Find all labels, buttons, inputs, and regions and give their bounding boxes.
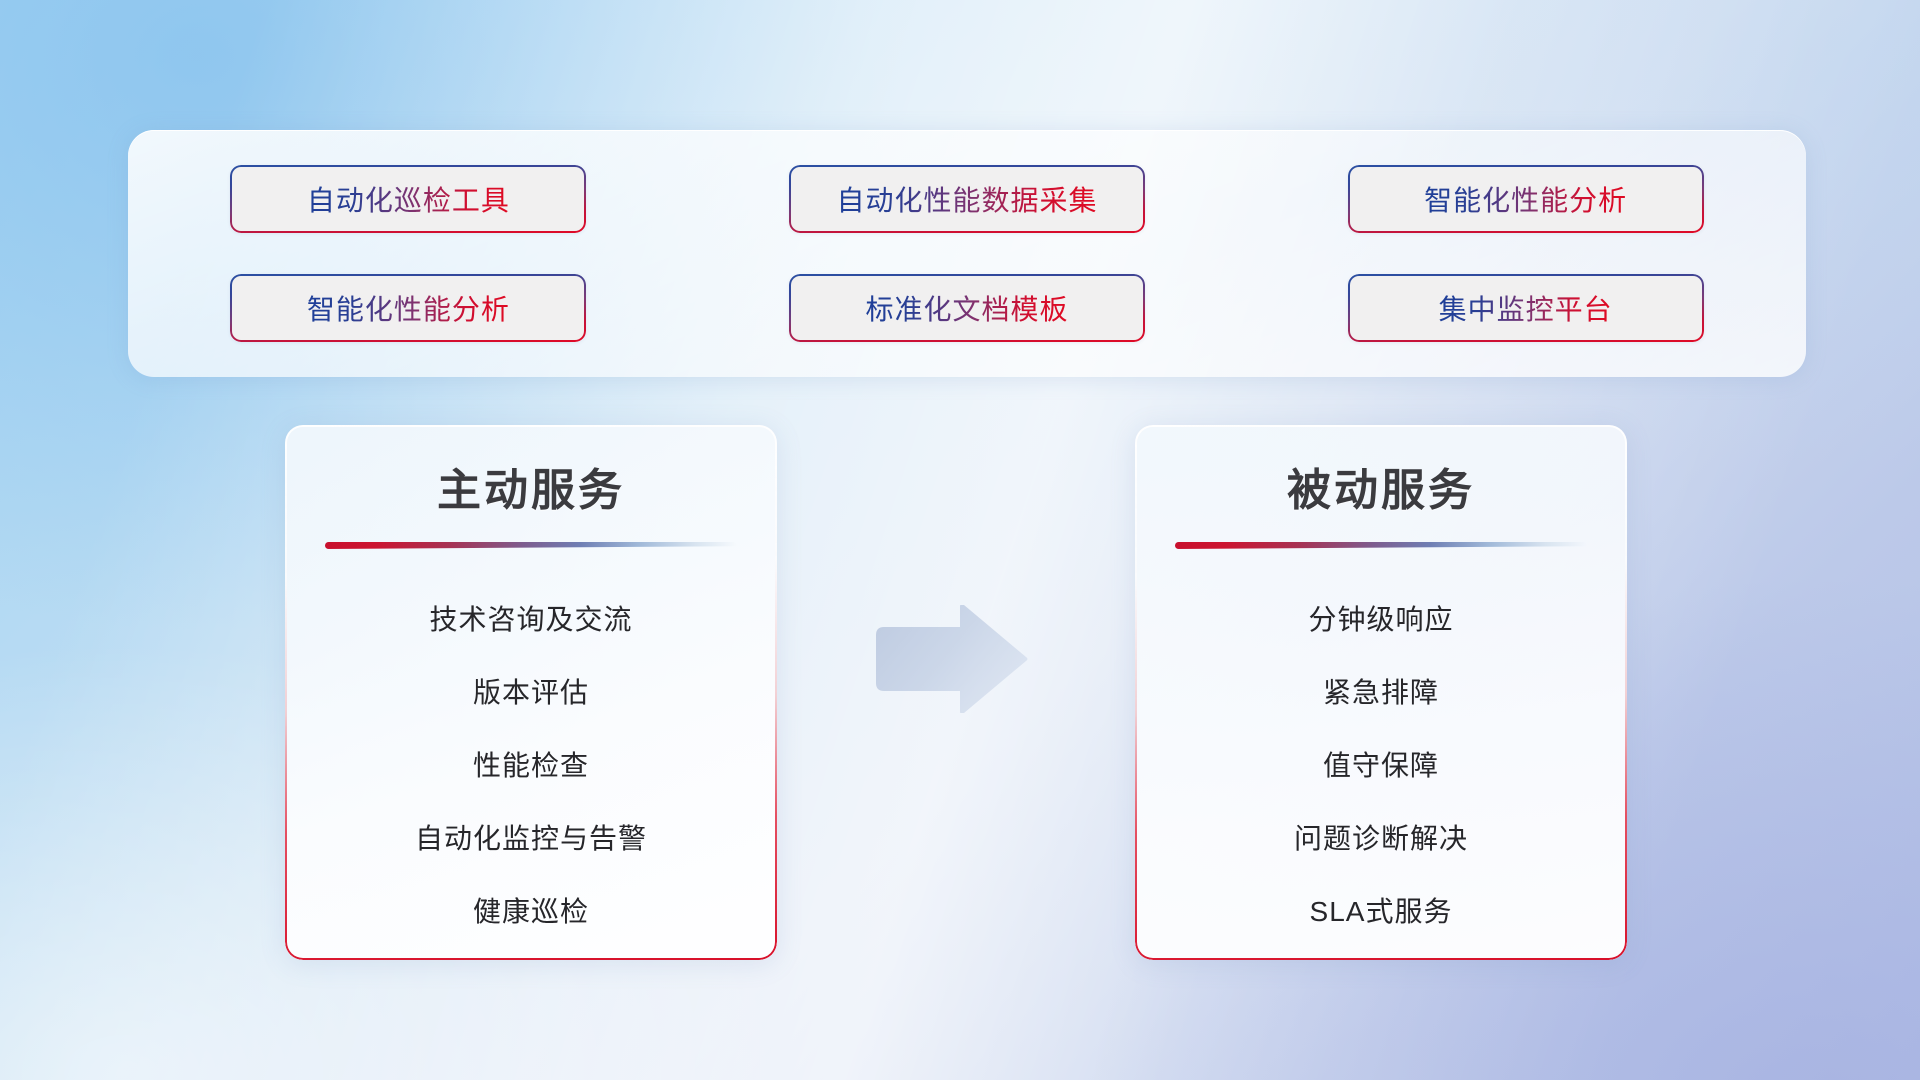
service-card-proactive[interactable]: 主动服务 技术咨询及交流 版本评估 性能检查 自动化监控与告警 健康巡检 (285, 425, 777, 960)
capability-pill-centralized-monitoring-platform[interactable]: 集中监控平台 (1348, 274, 1704, 342)
capability-pill-grid: 自动化巡检工具 自动化性能数据采集 智能化性能分析 智能化性能分析 标准化文档模… (168, 156, 1766, 351)
service-card-reactive[interactable]: 被动服务 分钟级响应 紧急排障 值守保障 问题诊断解决 SLA式服务 (1135, 425, 1627, 960)
capability-pill-label: 自动化性能数据采集 (836, 179, 1097, 219)
capability-pill-label: 集中监控平台 (1439, 288, 1613, 328)
service-item-list: 分钟级响应 紧急排障 值守保障 问题诊断解决 SLA式服务 (1173, 583, 1589, 948)
service-card-title: 被动服务 (1173, 463, 1589, 518)
capability-pill-label: 自动化巡检工具 (307, 179, 510, 219)
list-item: 版本评估 (323, 656, 739, 729)
list-item: 性能检查 (323, 729, 739, 802)
capability-pill-label: 智能化性能分析 (1424, 179, 1627, 219)
list-item: 健康巡检 (323, 875, 739, 948)
list-item: 值守保障 (1173, 729, 1589, 802)
capability-pill-automated-inspection-tool[interactable]: 自动化巡检工具 (230, 165, 586, 233)
service-card-title: 主动服务 (323, 463, 739, 518)
capabilities-panel: 自动化巡检工具 自动化性能数据采集 智能化性能分析 智能化性能分析 标准化文档模… (128, 130, 1806, 377)
service-card-divider (1175, 542, 1587, 549)
service-card-content: 被动服务 分钟级响应 紧急排障 值守保障 问题诊断解决 SLA式服务 (1135, 425, 1627, 960)
list-item: 技术咨询及交流 (323, 583, 739, 656)
list-item: 问题诊断解决 (1173, 802, 1589, 875)
capability-pill-intelligent-performance-analysis-bottom[interactable]: 智能化性能分析 (230, 274, 586, 342)
capability-pill-label: 标准化文档模板 (865, 288, 1068, 328)
list-item: 自动化监控与告警 (323, 802, 739, 875)
capability-pill-label: 智能化性能分析 (307, 288, 510, 328)
service-card-content: 主动服务 技术咨询及交流 版本评估 性能检查 自动化监控与告警 健康巡检 (285, 425, 777, 960)
capability-pill-automated-performance-data-collection[interactable]: 自动化性能数据采集 (789, 165, 1145, 233)
service-item-list: 技术咨询及交流 版本评估 性能检查 自动化监控与告警 健康巡检 (323, 583, 739, 948)
arrow-right-icon (870, 605, 1030, 713)
capability-pill-intelligent-performance-analysis-top[interactable]: 智能化性能分析 (1348, 165, 1704, 233)
list-item: 分钟级响应 (1173, 583, 1589, 656)
service-card-divider (325, 542, 737, 549)
list-item: SLA式服务 (1173, 875, 1589, 948)
capability-pill-standardized-document-template[interactable]: 标准化文档模板 (789, 274, 1145, 342)
list-item: 紧急排障 (1173, 656, 1589, 729)
